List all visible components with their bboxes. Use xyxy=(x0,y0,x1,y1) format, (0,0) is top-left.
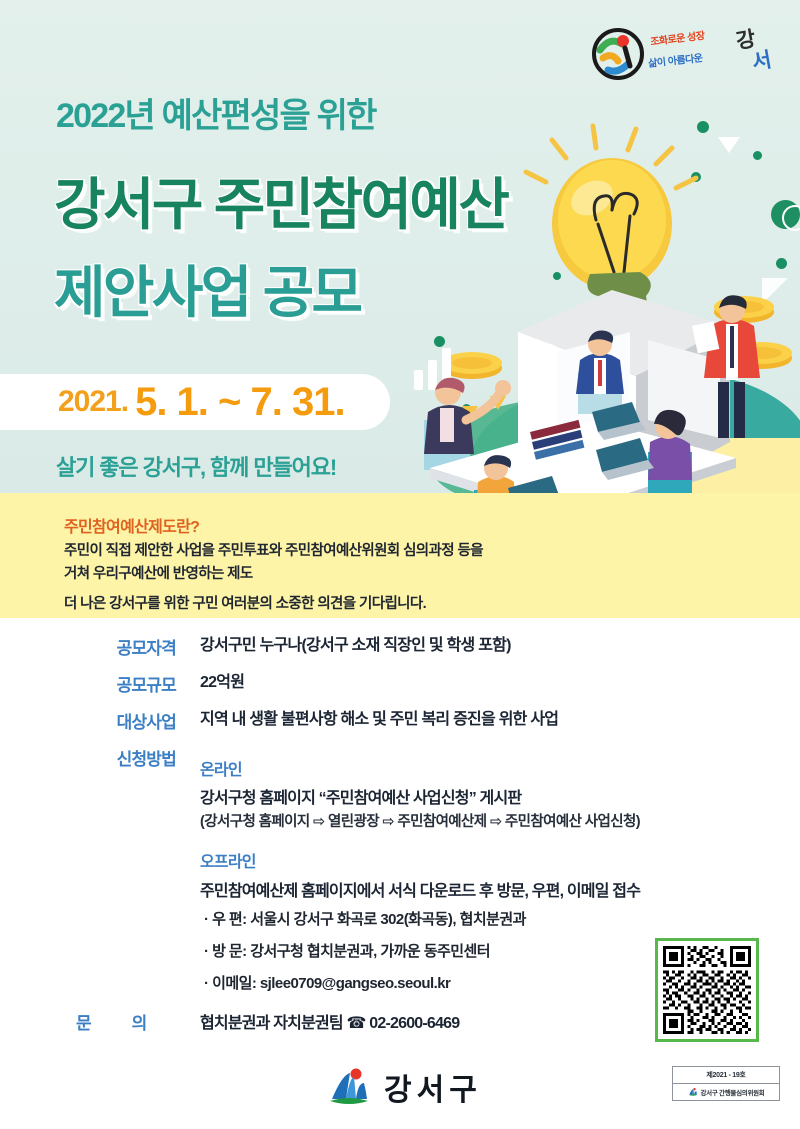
gangseo-ci-logo: 조화로운 성장 삶이 아름다운 강 서 xyxy=(592,22,772,84)
row-value: 지역 내 생활 불편사항 해소 및 주민 복리 증진을 위한 사업 xyxy=(200,708,558,731)
row-value: 강서구민 누구나(강서구 소재 직장인 및 학생 포함) xyxy=(200,634,511,657)
apply-online-board: 강서구청 홈페이지 “주민참여예산 사업신청” 게시판 xyxy=(200,784,521,808)
period-range: 5. 1. ~ 7. 31. xyxy=(135,380,345,425)
period-year: 2021. xyxy=(58,385,128,419)
apply-offline-mail: · 우 편: 서울시 강서구 화곡로 302(화곡동), 협치분권과 xyxy=(204,908,526,929)
hero-band: 조화로운 성장 삶이 아름다운 강 서 xyxy=(0,0,800,493)
publication-number: 제2021 - 19호 xyxy=(673,1067,779,1084)
detail-row-target: 대상사업 지역 내 생활 불편사항 해소 및 주민 복리 증진을 위한 사업 xyxy=(0,708,800,733)
apply-offline-summary: 주민참여예산제 홈페이지에서 서식 다운로드 후 방문, 우편, 이메일 접수 xyxy=(200,877,640,901)
row-label: 대상사업 xyxy=(0,708,200,733)
row-value: 22억원 xyxy=(200,671,244,694)
ci-slogan: 조화로운 성장 삶이 아름다운 강 서 xyxy=(648,26,772,82)
info-box-body: 주민이 직접 제안한 사업을 주민투표와 주민참여예산위원회 심의과정 등을 거… xyxy=(64,540,584,616)
info-box-line-1: 주민이 직접 제안한 사업을 주민투표와 주민참여예산위원회 심의과정 등을 xyxy=(64,540,584,563)
pre-title: 2022년 예산편성을 위한 xyxy=(56,88,376,137)
apply-online-label: 온라인 xyxy=(200,756,242,780)
footer-gangseo-logo: 강서구 xyxy=(326,1065,482,1109)
application-period-pill: 2021. 5. 1. ~ 7. 31. xyxy=(0,374,390,430)
publication-committee-row: 강서구 간행물심의위원회 xyxy=(673,1084,779,1100)
person-right-purple xyxy=(648,410,692,493)
title-line-1: 강서구 주민참여예산 xyxy=(54,160,507,241)
apply-online-path: (강서구청 홈페이지 ⇨ 열린광장 ⇨ 주민참여예산제 ⇨ 주민참여예산 사업신… xyxy=(200,810,640,831)
apply-offline-label: 오프라인 xyxy=(200,848,256,872)
contact-value: 협치분권과 자치분권팀 ☎ 02-2600-6469 xyxy=(200,1009,459,1033)
ci-district-char2: 서 xyxy=(750,44,774,77)
apply-offline-visit: · 방 문: 강서구청 협치분권과, 가까운 동주민센터 xyxy=(204,940,490,961)
footer-district-name: 강서구 xyxy=(384,1065,482,1109)
poster-root: 조화로운 성장 삶이 아름다운 강 서 xyxy=(0,0,800,1129)
publication-committee: 강서구 간행물심의위원회 xyxy=(701,1087,765,1097)
apply-offline-email: · 이메일: sjlee0709@gangseo.seoul.kr xyxy=(204,972,450,993)
info-box-heading: 주민참여예산제도란? xyxy=(64,513,199,537)
detail-row-method: 신청방법 xyxy=(0,745,800,770)
detail-row-scale: 공모규모 22억원 xyxy=(0,671,800,696)
qr-code-image xyxy=(663,946,751,1034)
row-label: 공모자격 xyxy=(0,634,200,659)
title-line-2: 제안사업 공모 xyxy=(54,248,360,329)
details-rows: 공모자격 강서구민 누구나(강서구 소재 직장인 및 학생 포함) 공모규모 2… xyxy=(0,634,800,782)
publication-stamp: 제2021 - 19호 강서구 간행물심의위원회 xyxy=(672,1066,780,1101)
info-box-line-2: 거쳐 우리구예산에 반영하는 제도 xyxy=(64,563,584,586)
gangseo-symbol-icon-small xyxy=(688,1087,698,1097)
hero-slogan: 살기 좋은 강서구, 함께 만들어요! xyxy=(56,450,336,482)
ci-emblem-icon xyxy=(592,28,644,80)
gangseo-symbol-icon xyxy=(326,1067,372,1107)
qr-code[interactable] xyxy=(655,938,759,1042)
ci-slogan-line1: 조화로운 성장 xyxy=(649,27,705,49)
contact-label: 문의 xyxy=(76,1009,200,1034)
row-label: 공모규모 xyxy=(0,671,200,696)
ci-slogan-line2: 삶이 아름다운 xyxy=(647,49,703,70)
info-box-line-3: 더 나은 강서구를 위한 구민 여러분의 소중한 의견을 기다립니다. xyxy=(64,593,584,616)
detail-row-eligibility: 공모자격 강서구민 누구나(강서구 소재 직장인 및 학생 포함) xyxy=(0,634,800,659)
row-label: 신청방법 xyxy=(0,745,200,770)
